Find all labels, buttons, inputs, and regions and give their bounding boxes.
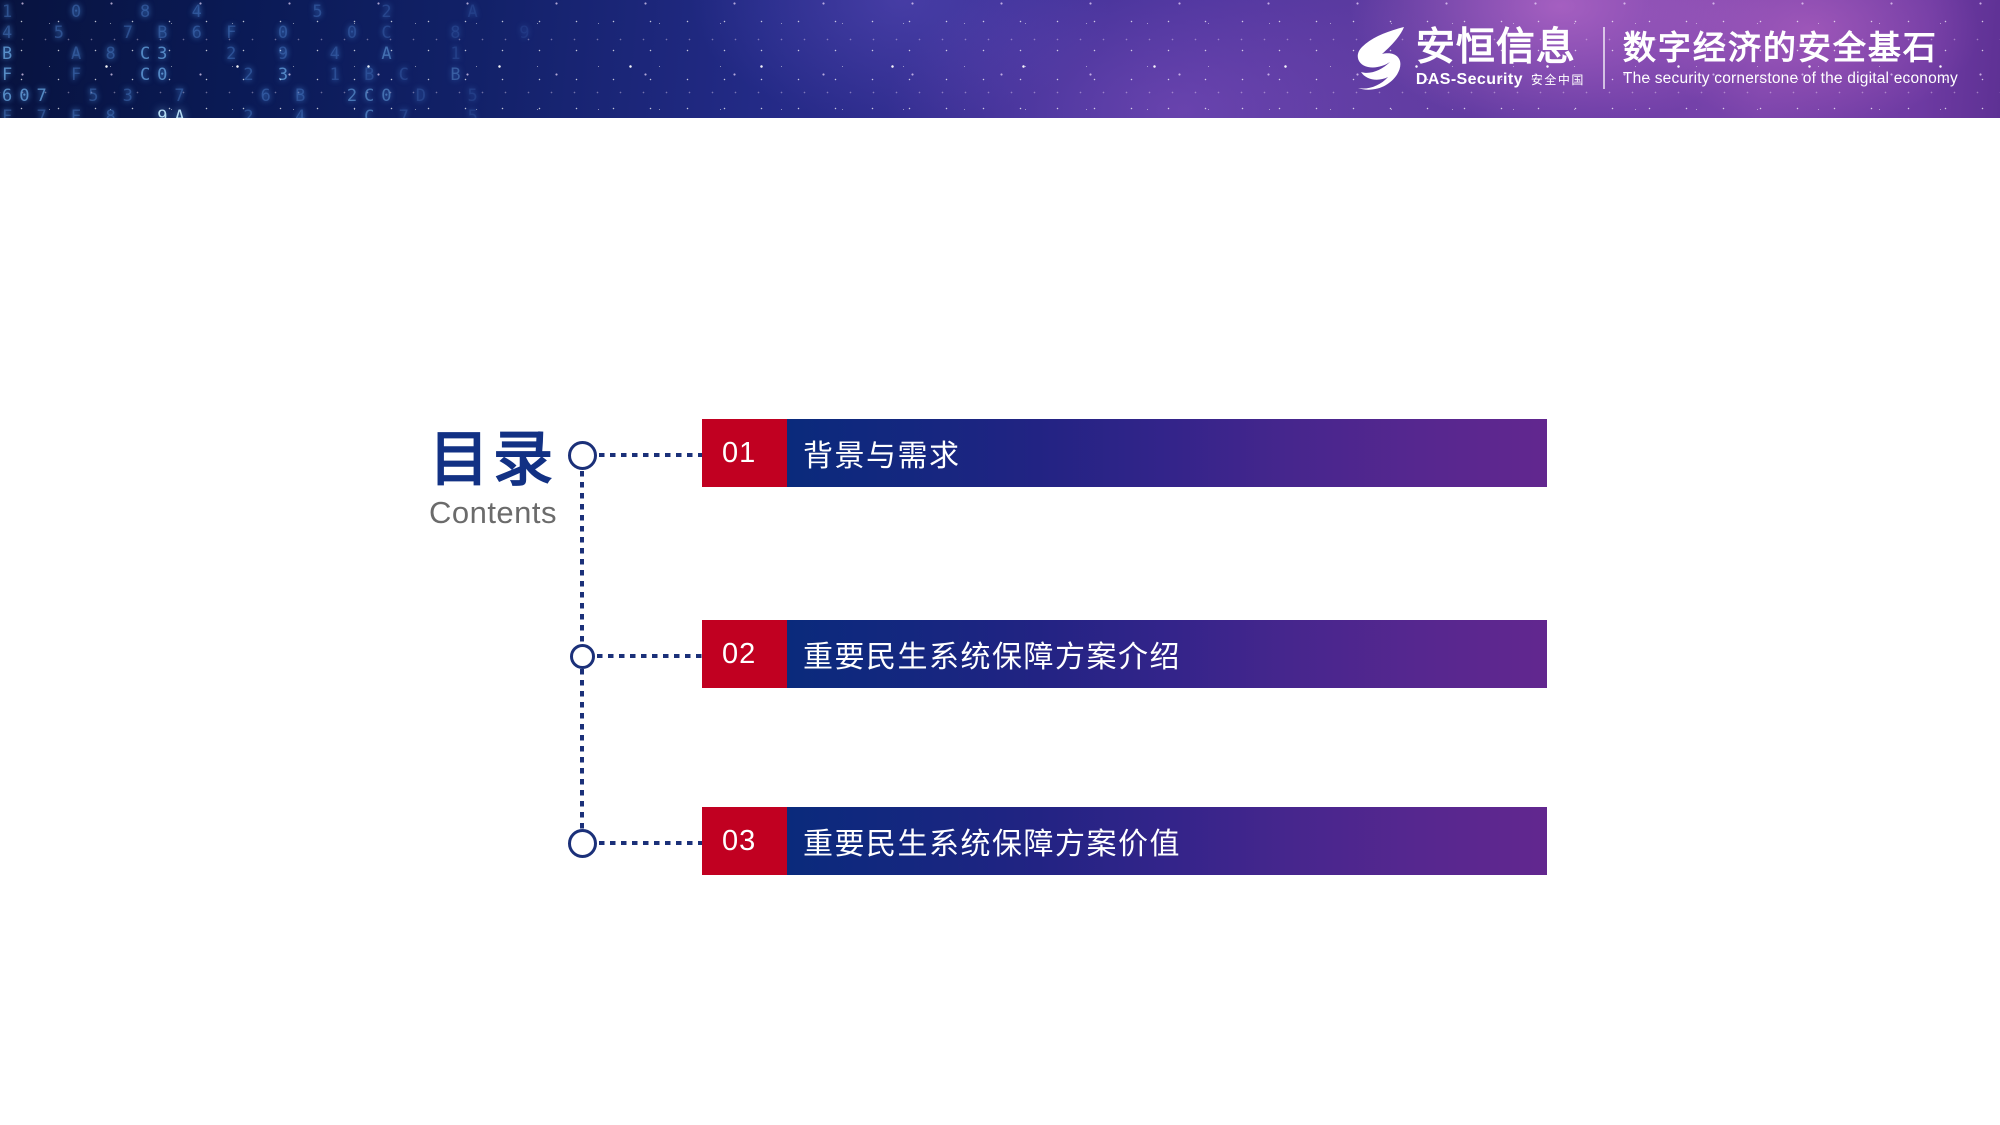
toc-item-label-03: 重要民生系统保障方案价值 [803, 819, 1181, 863]
toc-connector-dotted-02 [597, 654, 703, 658]
toc-node-circle-01 [568, 441, 597, 470]
toc-item-01[interactable]: 01 背景与需求 [702, 419, 1547, 487]
toc-item-label-01: 背景与需求 [803, 431, 961, 475]
logo-slogan-block: 数字经济的安全基石 The security cornerstone of th… [1623, 29, 1958, 88]
toc-item-number-03: 03 [702, 807, 787, 875]
logo-company-name-cn: 安恒信息 [1416, 27, 1585, 69]
toc-node-circle-02 [570, 644, 595, 669]
toc-item-number-02: 02 [702, 620, 787, 688]
toc-title-en: Contents [413, 494, 573, 532]
toc-connector-dotted-01 [599, 453, 703, 457]
toc-item-bar-01[interactable]: 背景与需求 [787, 419, 1547, 487]
logo-company-name-en: DAS-Security [1416, 71, 1523, 89]
logo-slogan-cn: 数字经济的安全基石 [1623, 29, 1958, 67]
das-security-swoosh-logo-icon [1352, 25, 1406, 91]
logo-subtitle-row: DAS-Security 安全中国 [1416, 71, 1585, 89]
toc-node-circle-03 [568, 829, 597, 858]
toc-item-label-02: 重要民生系统保障方案介绍 [803, 632, 1181, 676]
toc-item-number-01: 01 [702, 419, 787, 487]
logo-company-tagline-cn: 安全中国 [1531, 71, 1585, 88]
toc-title-cn: 目录 [413, 428, 573, 492]
logo-divider [1603, 27, 1605, 89]
toc-connector-dotted-03 [599, 841, 703, 845]
logo-name-block: 安恒信息 DAS-Security 安全中国 [1416, 27, 1601, 89]
toc-item-bar-03[interactable]: 重要民生系统保障方案价值 [787, 807, 1547, 875]
toc-item-03[interactable]: 03 重要民生系统保障方案价值 [702, 807, 1547, 875]
toc-item-bar-02[interactable]: 重要民生系统保障方案介绍 [787, 620, 1547, 688]
hex-code-texture: 1 0 8 4 5 2 A 4 5 7 B 6 F 0 0 C 8 9 B A … [0, 0, 762, 118]
toc-item-02[interactable]: 02 重要民生系统保障方案介绍 [702, 620, 1547, 688]
top-banner: 1 0 8 4 5 2 A 4 5 7 B 6 F 0 0 C 8 9 B A … [0, 0, 2000, 118]
toc-title-block: 目录 Contents [413, 428, 573, 532]
company-logo: 安恒信息 DAS-Security 安全中国 数字经济的安全基石 The sec… [1352, 16, 1958, 100]
logo-slogan-en: The security cornerstone of the digital … [1623, 70, 1958, 88]
